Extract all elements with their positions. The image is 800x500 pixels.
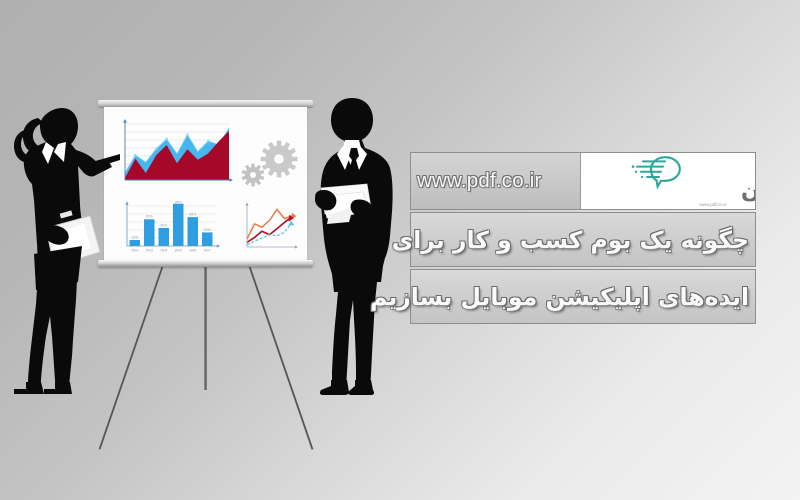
bar-chart-x-axis-arrow [217, 244, 220, 247]
svg-text:65%: 65% [189, 213, 196, 217]
svg-text:30%: 30% [204, 228, 211, 232]
businesswoman-presenter [8, 104, 120, 396]
headline-box-line2: ایده‌های اپلیکیشن موبایل بسازیم [410, 269, 756, 324]
man-head [331, 98, 373, 142]
area-chart-x-axis-arrow [229, 178, 233, 182]
businessman-silhouette-svg [303, 96, 403, 396]
board-bottom-rail [98, 260, 313, 267]
pishgaman-brand-text: پیشگامان [741, 177, 755, 204]
businessman-listener [303, 96, 403, 396]
bar-chart: 13% 60% 40% 95% 65% 30% 2002 2003 2004 2… [118, 201, 222, 256]
svg-text:2004: 2004 [160, 249, 167, 253]
woman-heel-left [14, 382, 44, 394]
bar-2006 [188, 217, 199, 246]
gears-icon-svg [241, 137, 303, 193]
gears-icon [241, 137, 303, 193]
bar-2002 [130, 240, 141, 246]
woman-ponytail [23, 118, 44, 154]
url-chip: www.pdf.co.ir [411, 153, 581, 209]
presentation-board: 13% 60% 40% 95% 65% 30% 2002 2003 2004 2… [98, 100, 313, 365]
svg-text:2003: 2003 [146, 249, 153, 253]
url-and-logo-box: www.pdf.co.ir [410, 152, 756, 210]
svg-text:60%: 60% [146, 215, 153, 219]
area-chart-svg [117, 118, 235, 190]
bar-chart-category-labels: 2002 2003 2004 2005 2006 2007 [131, 249, 211, 253]
pishgaman-logo: پیشگامان www.pdf.co.ir [581, 153, 755, 209]
area-chart-y-axis-arrow [123, 119, 127, 123]
board-canvas: 13% 60% 40% 95% 65% 30% 2002 2003 2004 2… [104, 107, 307, 260]
caption-panel: www.pdf.co.ir [410, 152, 758, 324]
man-shoe-left [320, 380, 349, 395]
website-url-text: www.pdf.co.ir [417, 169, 542, 193]
scene-background: 13% 60% 40% 95% 65% 30% 2002 2003 2004 2… [0, 0, 800, 500]
line-chart-y-axis-arrow [245, 202, 248, 205]
logo-sub-url-text: www.pdf.co.ir [699, 202, 727, 207]
gear-small-icon [242, 164, 265, 187]
svg-text:40%: 40% [160, 223, 167, 227]
board-top-rail [98, 100, 313, 107]
woman-heel-right [44, 382, 72, 394]
svg-text:2006: 2006 [189, 249, 196, 253]
svg-text:95%: 95% [175, 201, 182, 204]
bar-2004 [159, 228, 170, 246]
businesswoman-silhouette-svg [8, 104, 120, 396]
bar-2003 [144, 219, 155, 246]
line-chart-svg [240, 201, 300, 256]
bar-chart-bars [130, 204, 213, 246]
line-chart-series-blue-arrow [288, 220, 294, 226]
headline-line2-text: ایده‌های اپلیکیشن موبایل بسازیم [370, 283, 749, 311]
pishgaman-logo-svg: پیشگامان www.pdf.co.ir [581, 153, 755, 209]
headline-line1-text: چگونه یک بوم کسب و کار برای [392, 226, 749, 254]
bar-2007 [202, 232, 213, 246]
man-shoe-right [348, 380, 374, 395]
headline-box-line1: چگونه یک بوم کسب و کار برای [410, 212, 756, 267]
svg-text:13%: 13% [131, 235, 138, 239]
speech-bubble-motion-lines [632, 161, 665, 178]
line-chart [240, 201, 300, 256]
easel-leg-center [204, 265, 207, 390]
bar-chart-y-axis-arrow [125, 201, 128, 204]
bar-chart-value-labels: 13% 60% 40% 95% 65% 30% [131, 201, 210, 239]
bar-chart-svg: 13% 60% 40% 95% 65% 30% 2002 2003 2004 2… [118, 201, 222, 256]
svg-text:2005: 2005 [175, 249, 182, 253]
gear-large-icon [261, 141, 298, 178]
bar-2005 [173, 204, 184, 246]
svg-text:2007: 2007 [204, 249, 211, 253]
area-chart [117, 118, 235, 190]
svg-text:2002: 2002 [131, 249, 138, 253]
line-chart-x-axis-arrow [295, 245, 298, 248]
